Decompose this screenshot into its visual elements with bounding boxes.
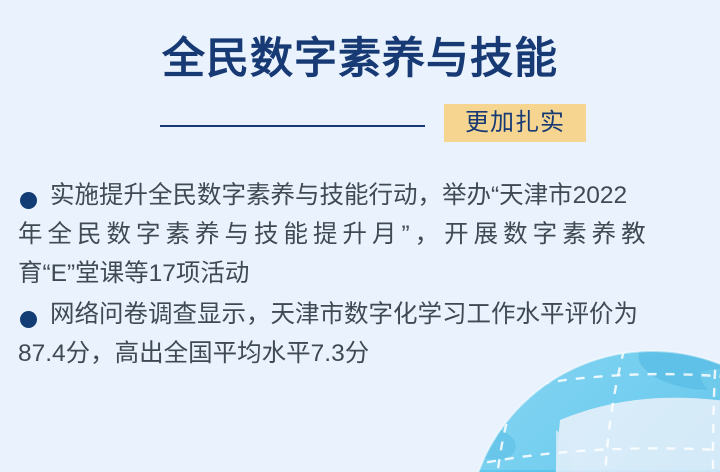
poster-canvas: 全民数字素养与技能 更加扎实 实施提升全民数字素养与技能行动，举办“天津市202… [0, 0, 720, 472]
page-title: 全民数字素养与技能 [0, 32, 720, 86]
poster-header: 全民数字素养与技能 更加扎实 [0, 32, 720, 86]
status-badge-label: 更加扎实 [465, 111, 565, 135]
bullet-dot-icon [20, 192, 37, 209]
list-item: 实施提升全民数字素养与技能行动，举办“天津市2022 年全民数字素养与技能提升月… [0, 176, 720, 293]
list-item-text: 网络问卷调查显示，天津市数字化学习工作水平评价为 87.4分，高出全国平均水平7… [0, 295, 720, 373]
list-item: 网络问卷调查显示，天津市数字化学习工作水平评价为 87.4分，高出全国平均水平7… [0, 295, 720, 373]
bullet-list: 实施提升全民数字素养与技能行动，举办“天津市2022 年全民数字素养与技能提升月… [0, 176, 720, 373]
divider-line [160, 125, 425, 127]
text-line: 育“E”堂课等17项活动 [0, 254, 720, 293]
text-line: 网络问卷调查显示，天津市数字化学习工作水平评价为 [0, 295, 720, 334]
list-item-text: 实施提升全民数字素养与技能行动，举办“天津市2022 年全民数字素养与技能提升月… [0, 176, 720, 293]
status-badge: 更加扎实 [444, 104, 586, 142]
text-line: 年全民数字素养与技能提升月”，开展数字素养教 [0, 215, 720, 254]
bullet-dot-icon [20, 311, 37, 328]
text-line: 实施提升全民数字素养与技能行动，举办“天津市2022 [0, 176, 720, 215]
title-accent-row: 更加扎实 [0, 104, 720, 148]
text-line: 87.4分，高出全国平均水平7.3分 [0, 334, 720, 373]
